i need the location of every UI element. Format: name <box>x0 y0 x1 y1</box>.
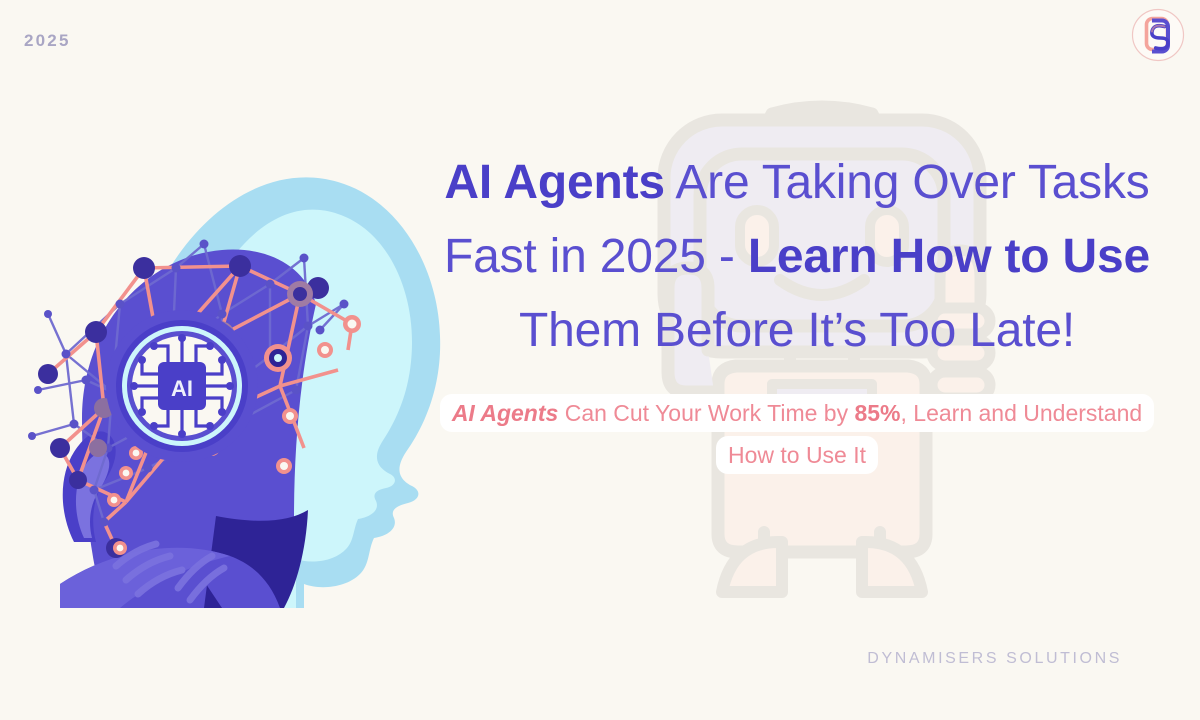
footer-brand: DYNAMISERS SOLUTIONS <box>867 650 1122 668</box>
page-headline: AI Agents Are Taking Over Tasks Fast in … <box>432 146 1162 368</box>
text-column: AI Agents Are Taking Over Tasks Fast in … <box>432 146 1162 478</box>
ai-chip-label: AI <box>171 376 193 401</box>
headline-segment-0: AI Agents <box>444 156 664 209</box>
ds-monogram-logo[interactable] <box>1128 5 1188 65</box>
subheadline-segment-1: Can Cut Your Work Time by <box>558 400 854 426</box>
headline-segment-3: Them Before It’s Too Late! <box>519 304 1075 357</box>
subheadline-segment-0: AI Agents <box>452 400 559 426</box>
ai-brain-head-illustration: AI <box>8 118 458 608</box>
subheadline-segment-2: 85% <box>854 400 900 426</box>
year-label: 2025 <box>24 31 71 51</box>
page-subheadline: AI Agents Can Cut Your Work Time by 85%,… <box>440 394 1154 474</box>
poster-canvas: 2025 <box>0 0 1200 720</box>
headline-segment-2: Learn How to Use <box>748 230 1150 283</box>
subheadline-wrap: AI Agents Can Cut Your Work Time by 85%,… <box>432 394 1162 478</box>
ai-badge: AI <box>106 310 258 462</box>
